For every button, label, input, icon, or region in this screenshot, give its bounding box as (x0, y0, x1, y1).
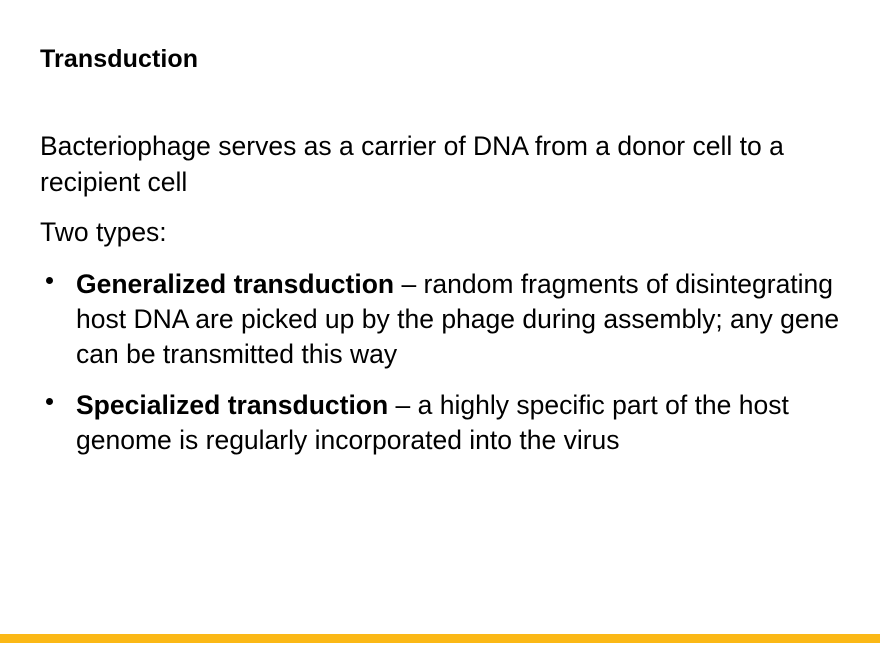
list-item: Specialized transduction – a highly spec… (40, 388, 840, 458)
page-title: Transduction (40, 44, 198, 74)
slide-body: Bacteriophage serves as a carrier of DNA… (40, 128, 840, 474)
bullet-dot-icon (46, 398, 53, 405)
slide-canvas: Transduction Bacteriophage serves as a c… (0, 0, 880, 660)
list-item: Generalized transduction – random fragme… (40, 267, 840, 372)
bullet-lead-term: Specialized transduction (76, 390, 388, 420)
footer-accent-bar (0, 634, 880, 643)
two-types-label: Two types: (40, 214, 830, 250)
bullet-lead-term: Generalized transduction (76, 269, 394, 299)
transduction-types-list: Generalized transduction – random fragme… (40, 267, 840, 458)
intro-paragraph: Bacteriophage serves as a carrier of DNA… (40, 128, 830, 200)
bullet-dot-icon (46, 277, 53, 284)
